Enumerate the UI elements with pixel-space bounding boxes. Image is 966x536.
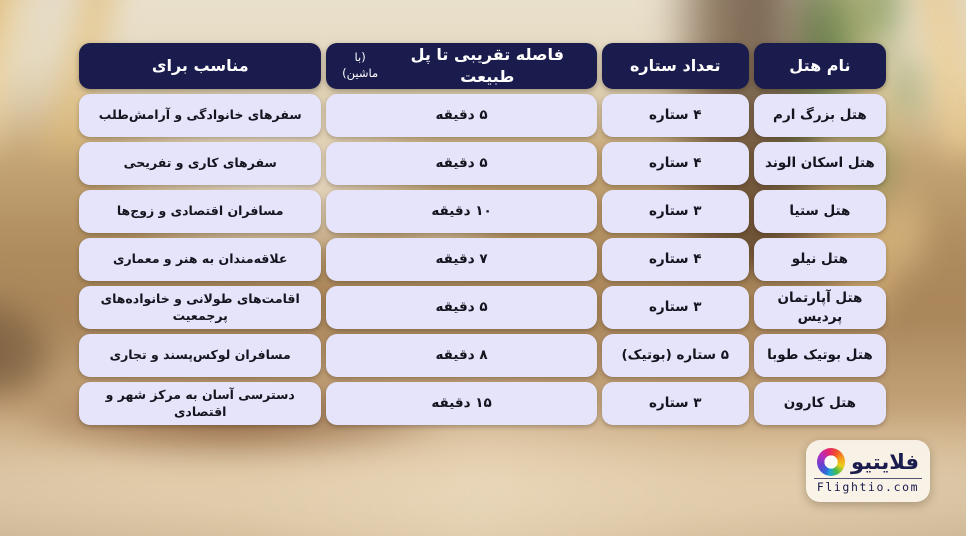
table-row: هتل بوتیک طوبا ۵ ستاره (بوتیک) ۸ دقیقه م… xyxy=(79,334,886,377)
table-row: هتل کارون ۳ ستاره ۱۵ دقیقه دسترسی آسان ب… xyxy=(79,382,886,425)
table-row: هتل اسکان الوند ۴ ستاره ۵ دقیقه سفرهای ک… xyxy=(79,142,886,185)
table-row: هتل نیلو ۴ ستاره ۷ دقیقه علاقه‌مندان به … xyxy=(79,238,886,281)
logo-name-fa: فلایتیو xyxy=(851,452,919,473)
cell-distance: ۸ دقیقه xyxy=(326,334,596,377)
table-row: هتل آپارتمان پردیس ۳ ستاره ۵ دقیقه اقامت… xyxy=(79,286,886,329)
column-header-distance: فاصله تقریبی تا پل طبیعت (با ماشین) xyxy=(326,43,596,89)
cell-hotel-name: هتل اسکان الوند xyxy=(754,142,886,185)
cell-hotel-name: هتل ستیا xyxy=(754,190,886,233)
flightio-logo-badge[interactable]: فلایتیو Flightio.com xyxy=(806,440,930,502)
cell-star-count: ۳ ستاره xyxy=(602,286,749,329)
cell-distance: ۱۰ دقیقه xyxy=(326,190,596,233)
cell-hotel-name: هتل نیلو xyxy=(754,238,886,281)
cell-star-count: ۴ ستاره xyxy=(602,142,749,185)
cell-suitable-for: سفرهای کاری و تفریحی xyxy=(79,142,321,185)
cell-distance: ۵ دقیقه xyxy=(326,94,596,137)
column-header-distance-main: فاصله تقریبی تا پل طبیعت xyxy=(388,44,587,87)
cell-suitable-for: دسترسی آسان به مرکز شهر و اقتصادی xyxy=(79,382,321,425)
cell-star-count: ۴ ستاره xyxy=(602,238,749,281)
cell-suitable-for: مسافران اقتصادی و زوج‌ها xyxy=(79,190,321,233)
cell-distance: ۵ دقیقه xyxy=(326,286,596,329)
cell-distance: ۱۵ دقیقه xyxy=(326,382,596,425)
cell-suitable-for: علاقه‌مندان به هنر و معماری xyxy=(79,238,321,281)
cell-star-count: ۳ ستاره xyxy=(602,382,749,425)
cell-star-count: ۵ ستاره (بوتیک) xyxy=(602,334,749,377)
colorful-ring-icon xyxy=(817,448,845,476)
cell-hotel-name: هتل بزرگ ارم xyxy=(754,94,886,137)
cell-hotel-name: هتل آپارتمان پردیس xyxy=(754,286,886,329)
column-header-suitable-for: مناسب برای xyxy=(79,43,321,89)
hotel-comparison-table: نام هتل تعداد ستاره فاصله تقریبی تا پل ط… xyxy=(79,43,886,430)
table-row: هتل ستیا ۳ ستاره ۱۰ دقیقه مسافران اقتصاد… xyxy=(79,190,886,233)
table-header-row: نام هتل تعداد ستاره فاصله تقریبی تا پل ط… xyxy=(79,43,886,89)
cell-star-count: ۳ ستاره xyxy=(602,190,749,233)
cell-suitable-for: سفرهای خانوادگی و آرامش‌طلب xyxy=(79,94,321,137)
table-row: هتل بزرگ ارم ۴ ستاره ۵ دقیقه سفرهای خانو… xyxy=(79,94,886,137)
logo-top-row: فلایتیو xyxy=(814,448,922,476)
cell-suitable-for: اقامت‌های طولانی و خانواده‌های پرجمعیت xyxy=(79,286,321,329)
cell-distance: ۷ دقیقه xyxy=(326,238,596,281)
column-header-hotel-name: نام هتل xyxy=(754,43,886,89)
cell-hotel-name: هتل بوتیک طوبا xyxy=(754,334,886,377)
cell-hotel-name: هتل کارون xyxy=(754,382,886,425)
logo-name-en: Flightio.com xyxy=(817,481,919,494)
cell-suitable-for: مسافران لوکس‌پسند و تجاری xyxy=(79,334,321,377)
column-header-distance-sub: (با ماشین) xyxy=(336,50,383,81)
column-header-star-count: تعداد ستاره xyxy=(602,43,749,89)
logo-divider xyxy=(814,478,922,479)
cell-distance: ۵ دقیقه xyxy=(326,142,596,185)
cell-star-count: ۴ ستاره xyxy=(602,94,749,137)
